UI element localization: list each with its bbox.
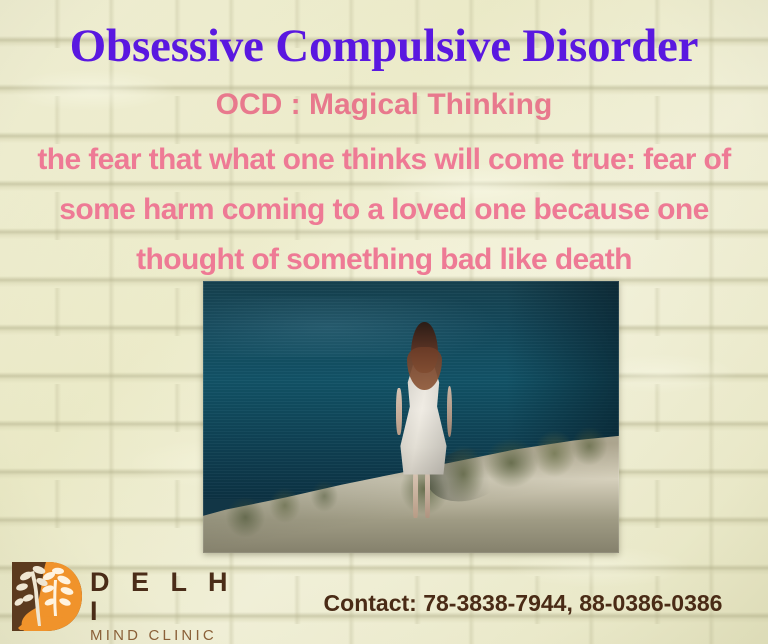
logo-tagline-mind-clinic: MIND CLINIC <box>90 627 238 644</box>
tree-in-letter-d-logo-icon <box>8 558 84 634</box>
poster-content: Obsessive Compulsive Disorder OCD : Magi… <box>0 0 768 644</box>
body-line-3: thought of something bad like death <box>0 235 768 285</box>
delhi-mind-clinic-logo: D E L H I MIND CLINIC <box>8 556 238 638</box>
poster-canvas: Obsessive Compulsive Disorder OCD : Magi… <box>0 0 768 644</box>
poster-body-text: the fear that what one thinks will come … <box>0 135 768 285</box>
photo-woman-by-water <box>203 281 619 553</box>
poster-subtitle: OCD : Magical Thinking <box>0 87 768 123</box>
contact-phone-numbers: Contact: 78-3838-7944, 88-0386-0386 <box>288 589 758 617</box>
photo-inner-edge <box>203 281 619 553</box>
logo-wordmark: D E L H I MIND CLINIC <box>90 568 238 644</box>
logo-name-delhi: D E L H I <box>90 568 238 626</box>
poster-title: Obsessive Compulsive Disorder <box>0 19 768 73</box>
body-line-2: some harm coming to a loved one because … <box>0 185 768 235</box>
body-line-1: the fear that what one thinks will come … <box>0 135 768 185</box>
